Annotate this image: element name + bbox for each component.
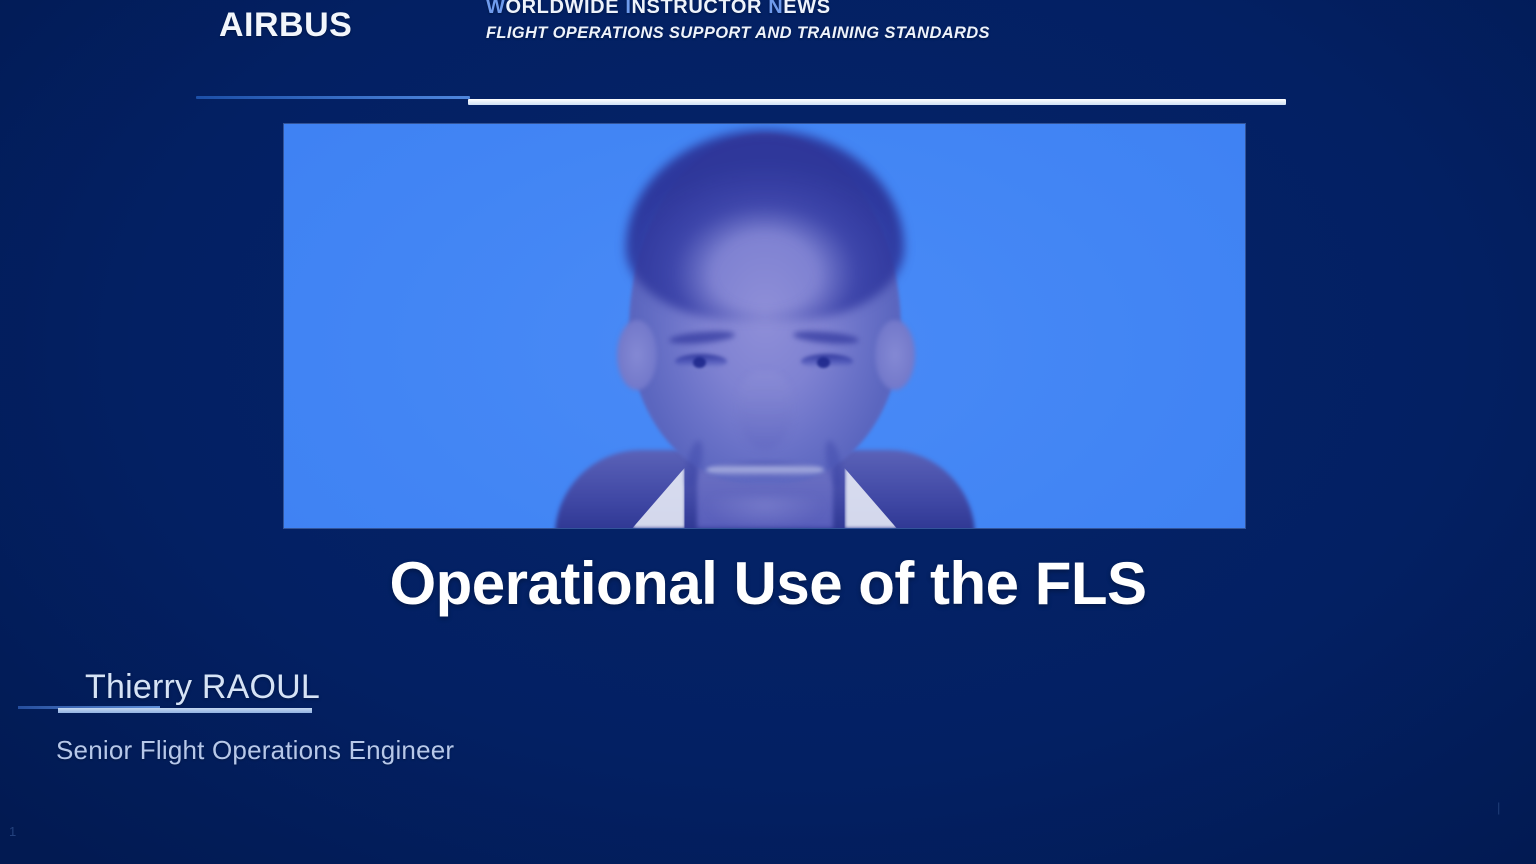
header-divider-left-segment (196, 96, 470, 99)
portrait-pupil-right (817, 357, 830, 368)
portrait-hair (626, 130, 904, 320)
portrait-pupil-left (693, 357, 706, 368)
newsletter-title-part-0: W (486, 0, 505, 18)
presenter-role: Senior Flight Operations Engineer (56, 735, 454, 766)
airbus-logo: AIRBUS (219, 6, 352, 45)
video-still-panel[interactable] (284, 124, 1245, 528)
portrait-nose (738, 372, 792, 450)
corner-mark: | (1497, 800, 1501, 815)
newsletter-title-part-5: EWS (783, 0, 830, 18)
portrait-ear-right (875, 320, 915, 390)
newsletter-title-part-3: NSTRUCTOR (632, 0, 769, 18)
presenter-name: Thierry RAOUL (85, 668, 320, 707)
header-divider-right-segment (468, 99, 1286, 105)
page-title: Operational Use of the FLS (0, 549, 1536, 618)
newsletter-subtitle: FLIGHT OPERATIONS SUPPORT AND TRAINING S… (486, 24, 990, 43)
portrait-ear-left (617, 320, 657, 390)
presentation-slide: AIRBUS WORLDWIDE INSTRUCTOR NEWS FLIGHT … (0, 0, 1536, 864)
portrait-mouth (706, 462, 824, 478)
page-number: 1 (9, 824, 16, 839)
portrait-chin (705, 496, 825, 528)
newsletter-title-part-4: N (768, 0, 783, 18)
newsletter-title: WORLDWIDE INSTRUCTOR NEWS (486, 0, 831, 19)
newsletter-title-part-1: ORLDWIDE (505, 0, 625, 18)
speaker-portrait (284, 124, 1245, 528)
presenter-underline-right-segment (58, 708, 312, 713)
